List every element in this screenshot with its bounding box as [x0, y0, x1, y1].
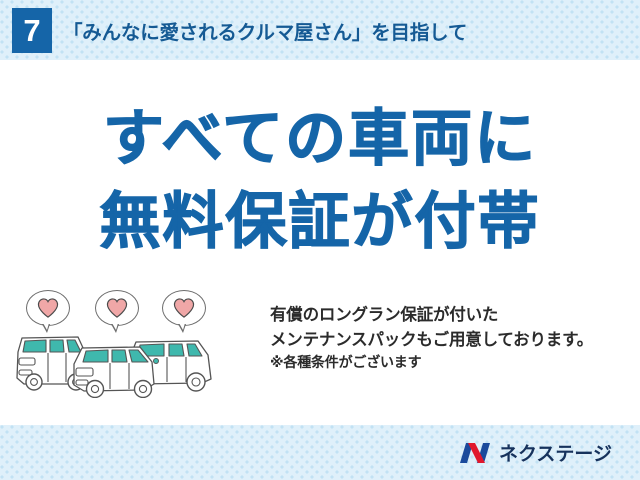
brand-name: ネクステージ [499, 439, 612, 466]
main-content: すべての車両に 無料保証が付帯 [0, 60, 640, 425]
section-number-badge: 7 [12, 8, 52, 53]
cars-illustration [12, 288, 262, 398]
brand-logo: ネクステージ [458, 439, 612, 466]
description-line-2: メンテナンスパックもご用意しております。 [270, 327, 593, 352]
heart-icon [106, 298, 128, 318]
description-note: ※各種条件がございます [270, 352, 593, 374]
footer-band: ネクステージ [0, 425, 640, 480]
description-block: 有償のロングラン保証が付いた メンテナンスパックもご用意しております。 ※各種条… [270, 288, 593, 375]
headline-line-1: すべての車両に [0, 108, 640, 169]
heart-icon [173, 298, 195, 318]
description-line-1: 有償のロングラン保証が付いた [270, 302, 593, 327]
headline-line-2: 無料保証が付帯 [0, 191, 640, 252]
speech-bubble-2 [95, 290, 139, 326]
car-wagon [74, 347, 154, 398]
nextage-n-mark-icon [458, 441, 492, 465]
heart-icon [37, 298, 59, 318]
page-title: 「みんなに愛されるクルマ屋さん」を目指して [63, 16, 467, 45]
three-cars-group [12, 330, 262, 398]
speech-bubble-1 [26, 290, 70, 326]
speech-bubble-3 [162, 290, 206, 326]
header-band: 7 「みんなに愛されるクルマ屋さん」を目指して [0, 0, 640, 60]
info-row: 有償のロングラン保証が付いた メンテナンスパックもご用意しております。 ※各種条… [0, 288, 640, 398]
